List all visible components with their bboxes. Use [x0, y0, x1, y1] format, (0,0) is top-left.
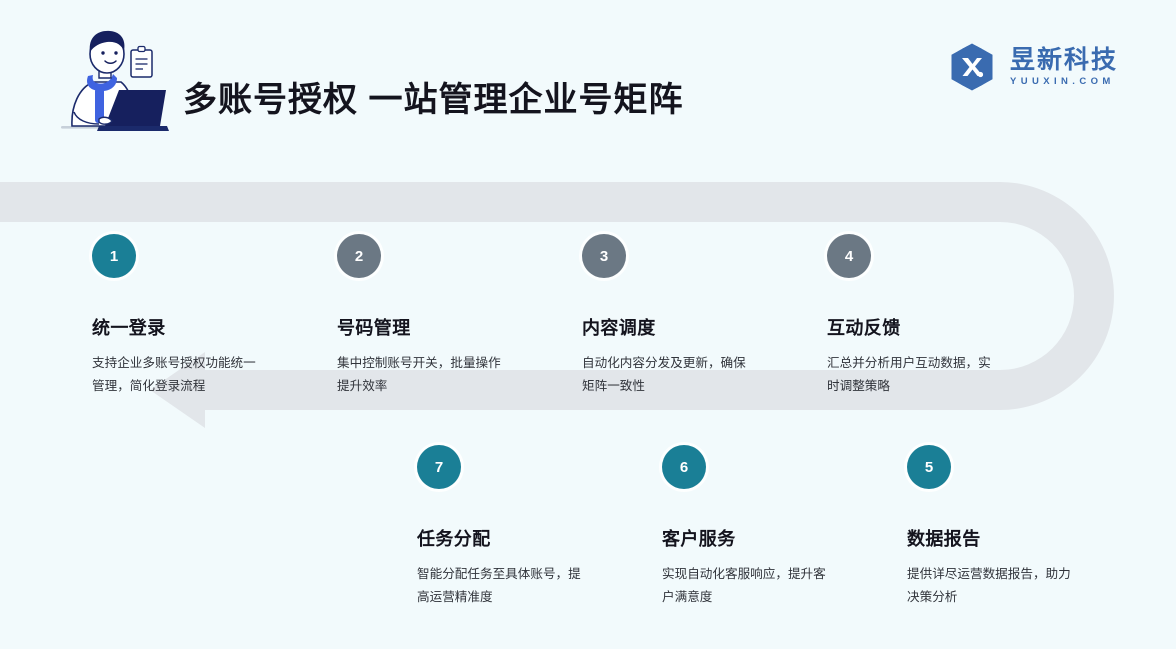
step-5-desc: 提供详尽运营数据报告，助力决策分析 [907, 563, 1083, 610]
page-header: 多账号授权 一站管理企业号矩阵 昱新科技 YUUXIN.COM [0, 0, 1176, 150]
step-6[interactable]: 6 客户服务 实现自动化客服响应，提升客户满意度 [662, 445, 838, 610]
step-2-badge: 2 [337, 234, 381, 278]
step-4-title: 互动反馈 [827, 314, 1003, 340]
brand-logo: 昱新科技 YUUXIN.COM [947, 42, 1118, 92]
step-6-badge: 6 [662, 445, 706, 489]
step-3-desc: 自动化内容分发及更新，确保矩阵一致性 [582, 352, 758, 399]
step-2-desc: 集中控制账号开关，批量操作提升效率 [337, 352, 513, 399]
step-3-title: 内容调度 [582, 314, 758, 340]
step-6-title: 客户服务 [662, 525, 838, 551]
person-at-laptop-illustration [55, 14, 175, 140]
step-7[interactable]: 7 任务分配 智能分配任务至具体账号，提高运营精准度 [417, 445, 593, 610]
step-7-badge: 7 [417, 445, 461, 489]
step-2-title: 号码管理 [337, 314, 513, 340]
page-title: 多账号授权 一站管理企业号矩阵 [183, 72, 683, 121]
step-7-title: 任务分配 [417, 525, 593, 551]
x-hexagon-logo-icon [947, 42, 997, 92]
step-3[interactable]: 3 内容调度 自动化内容分发及更新，确保矩阵一致性 [582, 234, 758, 399]
step-1-desc: 支持企业多账号授权功能统一管理，简化登录流程 [92, 352, 268, 399]
step-5[interactable]: 5 数据报告 提供详尽运营数据报告，助力决策分析 [907, 445, 1083, 610]
step-4[interactable]: 4 互动反馈 汇总并分析用户互动数据，实时调整策略 [827, 234, 1003, 399]
step-1-badge: 1 [92, 234, 136, 278]
step-5-title: 数据报告 [907, 525, 1083, 551]
step-3-badge: 3 [582, 234, 626, 278]
step-7-desc: 智能分配任务至具体账号，提高运营精准度 [417, 563, 593, 610]
step-6-desc: 实现自动化客服响应，提升客户满意度 [662, 563, 838, 610]
brand-domain: YUUXIN.COM [1010, 76, 1118, 87]
step-5-badge: 5 [907, 445, 951, 489]
brand-text: 昱新科技 YUUXIN.COM [1010, 47, 1118, 87]
step-1-title: 统一登录 [92, 314, 268, 340]
step-4-badge: 4 [827, 234, 871, 278]
step-2[interactable]: 2 号码管理 集中控制账号开关，批量操作提升效率 [337, 234, 513, 399]
step-4-desc: 汇总并分析用户互动数据，实时调整策略 [827, 352, 1003, 399]
brand-name: 昱新科技 [1010, 47, 1118, 74]
step-1[interactable]: 1 统一登录 支持企业多账号授权功能统一管理，简化登录流程 [92, 234, 268, 399]
